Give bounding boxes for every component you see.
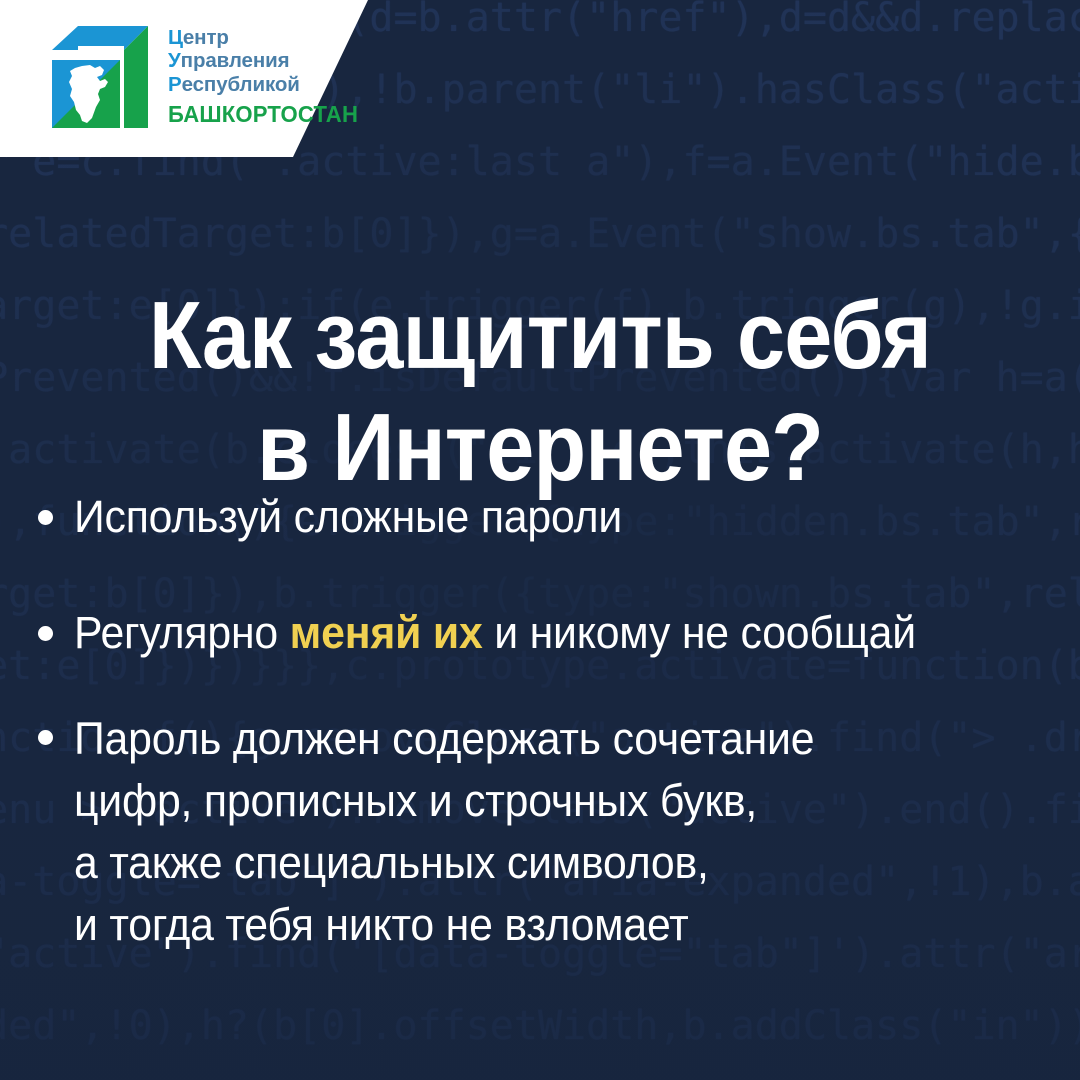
bashkortostan-cube-logo-icon	[48, 22, 152, 132]
logo-cap-2: У	[168, 49, 181, 72]
bullet-password-composition: Пароль должен содержать сочетание цифр, …	[74, 708, 814, 956]
logo-line-3: Республикой	[168, 75, 370, 96]
list-item: Пароль должен содержать сочетание цифр, …	[38, 708, 1060, 956]
bullet-2-highlight: меняй их	[290, 607, 483, 658]
list-item: Регулярно меняй их и никому не сообщай	[38, 604, 1060, 662]
logo-line-1: Центр	[168, 28, 370, 49]
page-title: Как защитить себя в Интернете?	[54, 280, 1026, 504]
organization-logo: Центр Управления Республикой БАШКОРТОСТА…	[48, 22, 370, 132]
bullet-dot-icon	[38, 510, 53, 525]
logo-wordmark: Центр Управления Республикой БАШКОРТОСТА…	[168, 28, 370, 127]
logo-rest-3: еспубликой	[182, 73, 300, 96]
bullet-2-before: Регулярно	[74, 607, 290, 658]
bullet-2-after: и никому не сообщай	[483, 607, 916, 658]
logo-rest-1: ентр	[183, 26, 229, 49]
logo-rest-2: правления	[181, 49, 290, 72]
page-title-line-1: Как защитить себя	[54, 280, 1026, 392]
logo-cap-3: Р	[168, 73, 182, 96]
bullet-dot-icon	[38, 730, 53, 745]
poster-canvas: "target");if(d||(d=b.attr("href"),d=d&&d…	[0, 0, 1080, 1080]
bullet-dot-icon	[38, 626, 53, 641]
bullet-use-strong-passwords: Используй сложные пароли	[74, 488, 622, 546]
list-item: Используй сложные пароли	[38, 488, 1060, 546]
logo-line-2: Управления	[168, 51, 370, 72]
logo-region-name: БАШКОРТОСТАН	[168, 103, 358, 127]
bullet-change-passwords: Регулярно меняй их и никому не сообщай	[74, 604, 916, 662]
advice-list: Используй сложные пароли Регулярно меняй…	[38, 488, 1060, 956]
logo-cap-1: Ц	[168, 26, 183, 49]
poster-content: Как защитить себя в Интернете? Используй…	[0, 0, 1080, 1080]
